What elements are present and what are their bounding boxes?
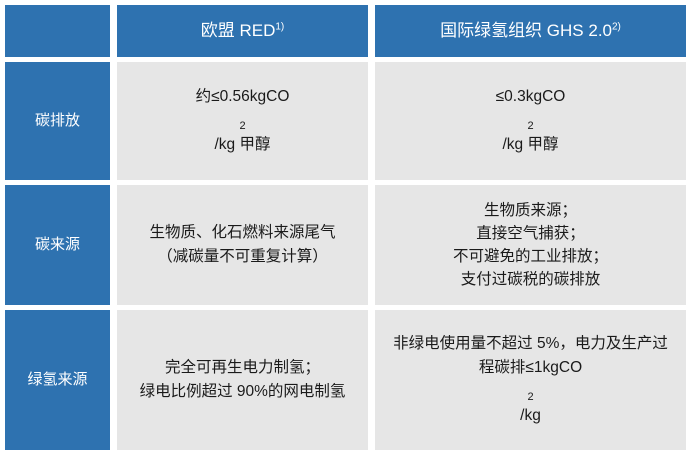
cell-line: 生物质、化石燃料来源尾气 [127,221,358,245]
column-header-ghs: 国际绿氢组织 GHS 2.02) [375,5,686,57]
cell-line: 程碳排≤1kgCO2/kg [385,356,676,428]
row-label-carbon-source: 碳来源 [5,185,110,305]
cell-line: 非绿电使用量不超过 5%，电力及生产过 [385,332,676,356]
table-header: 欧盟 RED1) 国际绿氢组织 GHS 2.02) [5,5,686,57]
cell-carbon-emission-ghs: ≤0.3kgCO2/kg 甲醇 [375,62,686,180]
comparison-table-container: 欧盟 RED1) 国际绿氢组织 GHS 2.02) 碳排放 约≤0.56kgCO… [5,5,693,448]
cell-green-hydrogen-source-ghs: 非绿电使用量不超过 5%，电力及生产过 程碳排≤1kgCO2/kg [375,310,686,450]
header-corner-cell [5,5,110,57]
cell-line: 支付过碳税的碳排放 [385,268,676,291]
row-label-carbon-emission: 碳排放 [5,62,110,180]
footnote-marker-2: 2) [612,22,621,33]
cell-green-hydrogen-source-eu-red: 完全可再生电力制氢； 绿电比例超过 90%的网电制氢 [117,310,368,450]
row-label-green-hydrogen-source: 绿氢来源 [5,310,110,450]
cell-carbon-source-eu-red: 生物质、化石燃料来源尾气 （减碳量不可重复计算） [117,185,368,305]
header-row: 欧盟 RED1) 国际绿氢组织 GHS 2.02) [5,5,686,57]
table-row: 碳排放 约≤0.56kgCO2/kg 甲醇 ≤0.3kgCO2/kg 甲醇 [5,62,686,180]
cell-line: （减碳量不可重复计算） [127,245,358,269]
cell-line: ≤0.3kgCO2/kg 甲醇 [385,85,676,157]
cell-carbon-emission-eu-red: 约≤0.56kgCO2/kg 甲醇 [117,62,368,180]
cell-line: 不可避免的工业排放； [385,245,676,268]
footnote-marker-1: 1) [275,22,284,33]
column-header-ghs-label: 国际绿氢组织 GHS 2.0 [440,21,612,40]
table-row: 碳来源 生物质、化石燃料来源尾气 （减碳量不可重复计算） 生物质来源； 直接空气… [5,185,686,305]
cell-line: 生物质来源； [385,199,676,222]
subscript-2: 2 [527,120,533,132]
table-body: 碳排放 约≤0.56kgCO2/kg 甲醇 ≤0.3kgCO2/kg 甲醇 碳来… [5,62,686,450]
comparison-table: 欧盟 RED1) 国际绿氢组织 GHS 2.02) 碳排放 约≤0.56kgCO… [0,0,693,455]
cell-line: 约≤0.56kgCO2/kg 甲醇 [127,85,358,157]
cell-line: 绿电比例超过 90%的网电制氢 [127,380,358,404]
cell-line: 直接空气捕获； [385,222,676,245]
column-header-eu-red-label: 欧盟 RED [201,21,276,40]
subscript-2: 2 [527,391,533,403]
table-row: 绿氢来源 完全可再生电力制氢； 绿电比例超过 90%的网电制氢 非绿电使用量不超… [5,310,686,450]
cell-line: 完全可再生电力制氢； [127,356,358,380]
subscript-2: 2 [239,120,245,132]
cell-carbon-source-ghs: 生物质来源； 直接空气捕获； 不可避免的工业排放； 支付过碳税的碳排放 [375,185,686,305]
column-header-eu-red: 欧盟 RED1) [117,5,368,57]
